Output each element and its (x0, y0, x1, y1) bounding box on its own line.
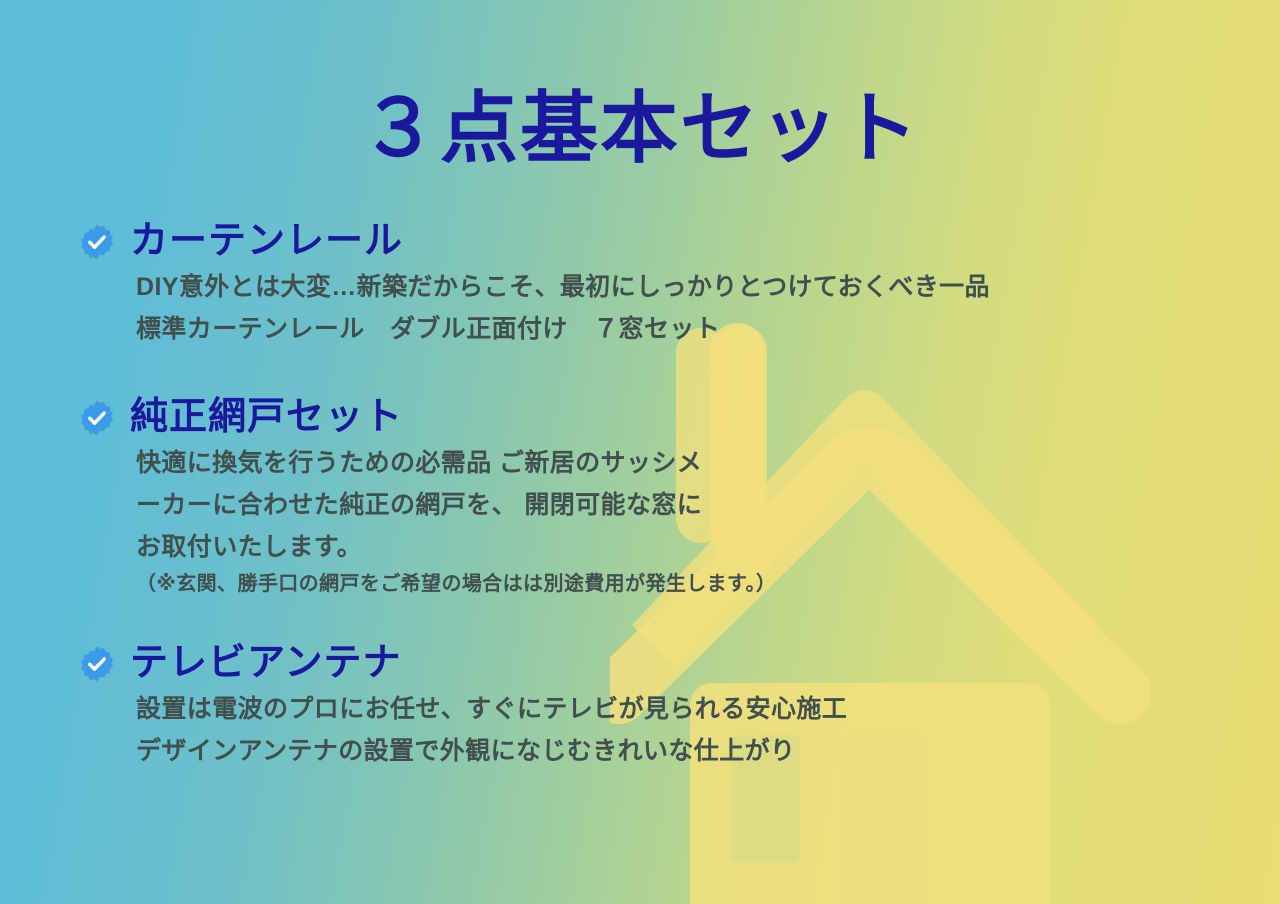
feature-description: 設置は電波のプロにお任せ、すぐにテレビが見られる安心施工 デザインアンテナの設置… (136, 688, 1228, 772)
description-note: （※玄関、勝手口の網戸をご希望の場合はは別途費用が発生します。） (136, 568, 1228, 600)
verified-check-icon (78, 399, 116, 437)
promo-poster: ３点基本セット カーテンレール DIY意外とは大変…新築だからこそ、最初にしっか… (0, 0, 1280, 904)
description-line: DIY意外とは大変…新築だからこそ、最初にしっかりとつけておくべき一品 (136, 266, 1228, 308)
feature-item-tv-antenna: テレビアンテナ 設置は電波のプロにお任せ、すぐにテレビが見られる安心施工 デザイ… (78, 644, 1228, 772)
feature-item-curtain-rail: カーテンレール DIY意外とは大変…新築だからこそ、最初にしっかりとつけておくべ… (78, 222, 1228, 350)
description-line: 快適に換気を行うための必需品 ご新居のサッシメ (136, 442, 1228, 484)
description-line: ーカーに合わせた純正の網戸を、 開閉可能な窓に (136, 484, 1228, 526)
feature-title: カーテンレール (130, 222, 403, 262)
verified-check-icon (78, 645, 116, 683)
feature-description: DIY意外とは大変…新築だからこそ、最初にしっかりとつけておくべき一品 標準カー… (136, 266, 1228, 350)
description-line: お取付いたします。 (136, 526, 1228, 568)
feature-title: 純正網戸セット (130, 398, 403, 438)
feature-title: テレビアンテナ (130, 644, 401, 684)
feature-description: 快適に換気を行うための必需品 ご新居のサッシメ ーカーに合わせた純正の網戸を、 … (136, 442, 1228, 600)
feature-heading-row: テレビアンテナ (78, 644, 1228, 684)
feature-item-window-screen: 純正網戸セット 快適に換気を行うための必需品 ご新居のサッシメ ーカーに合わせた… (78, 398, 1228, 600)
feature-heading-row: カーテンレール (78, 222, 1228, 262)
feature-list: カーテンレール DIY意外とは大変…新築だからこそ、最初にしっかりとつけておくべ… (78, 222, 1228, 772)
description-line: デザインアンテナの設置で外観になじむきれいな仕上がり (136, 730, 1228, 772)
verified-check-icon (78, 223, 116, 261)
page-title: ３点基本セット (0, 86, 1280, 170)
description-line: 標準カーテンレール ダブル正面付け ７窓セット (136, 308, 1228, 350)
feature-heading-row: 純正網戸セット (78, 398, 1228, 438)
description-line: 設置は電波のプロにお任せ、すぐにテレビが見られる安心施工 (136, 688, 1228, 730)
